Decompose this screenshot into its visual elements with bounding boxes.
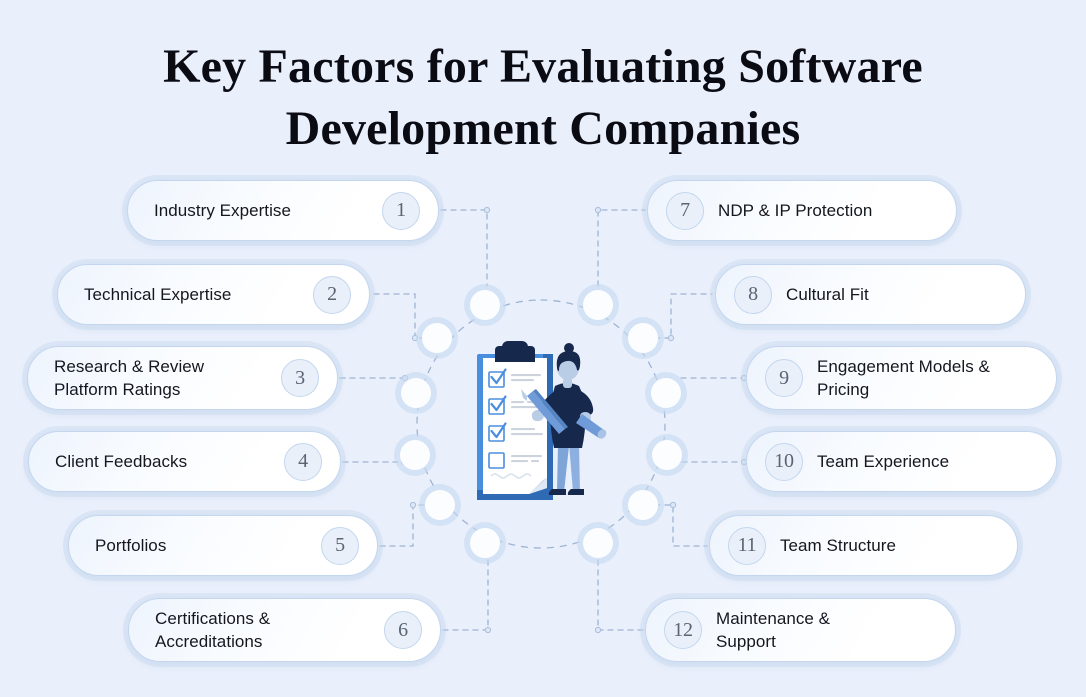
factor-number-2: 2 [313,276,351,314]
factor-label-7: NDP & IP Protection [718,199,872,222]
ring-node-12 [583,528,613,558]
factor-pill-2[interactable]: Technical Expertise 2 [57,264,370,325]
factor-pill-4[interactable]: Client Feedbacks 4 [28,431,341,492]
factor-label-5: Portfolios [95,534,180,557]
text-line [511,374,541,376]
factor-number-8: 8 [734,276,772,314]
ring-node-4 [628,323,658,353]
connector-1 [441,210,487,286]
ring-node-11 [470,528,500,558]
person-leg-front [569,444,580,492]
factor-number-4: 4 [284,443,322,481]
factor-label-11: Team Structure [780,534,896,557]
connector-6 [443,560,488,630]
text-line [511,428,535,430]
factor-label-2: Technical Expertise [84,283,245,306]
connector-endpoint-dot [595,627,600,632]
factor-pill-3[interactable]: Research & Review Platform Ratings 3 [27,346,338,410]
connector-7 [598,210,645,286]
factor-pill-12[interactable]: 12 Maintenance & Support [645,598,956,662]
text-line [511,379,534,381]
factor-pill-1[interactable]: Industry Expertise 1 [127,180,439,241]
connector-endpoint-dot [485,627,490,632]
connector-endpoint-dot [670,502,675,507]
person-shoe-front [568,489,584,495]
connector-12 [598,560,643,630]
ring-node-1 [470,290,500,320]
text-line [511,406,539,408]
factor-label-12: Maintenance & Support [716,607,830,653]
text-line [531,460,539,462]
ring-node-9 [425,490,455,520]
factor-label-6: Certifications & Accreditations [155,607,284,653]
person-shoe-back [549,489,566,495]
text-line [511,433,543,435]
clipboard-checklist-person-illustration [463,340,623,512]
factor-number-10: 10 [765,443,803,481]
factor-label-4: Client Feedbacks [55,450,201,473]
factor-pill-10[interactable]: 10 Team Experience [746,431,1057,492]
clipboard-clip-top [502,341,528,347]
ring-node-5 [401,378,431,408]
factor-number-9: 9 [765,359,803,397]
ring-node-7 [400,440,430,470]
factor-number-7: 7 [666,192,704,230]
factor-pill-11[interactable]: 11 Team Structure [709,515,1018,576]
connector-endpoint-dot [484,207,489,212]
factor-pill-9[interactable]: 9 Engagement Models & Pricing [746,346,1057,410]
person-leg-back [557,444,569,492]
ring-node-10 [628,490,658,520]
connector-endpoint-dot [410,502,415,507]
page-title: Key Factors for Evaluating Software Deve… [0,36,1086,160]
ring-node-2 [583,290,613,320]
person-hair-bun [564,343,574,353]
factor-label-3: Research & Review Platform Ratings [54,355,218,401]
factor-pill-5[interactable]: Portfolios 5 [68,515,378,576]
factor-number-5: 5 [321,527,359,565]
clipboard-clip [495,346,535,362]
ring-node-8 [652,440,682,470]
factor-label-8: Cultural Fit [786,283,869,306]
factor-pill-8[interactable]: 8 Cultural Fit [715,264,1026,325]
infographic-canvas: Key Factors for Evaluating Software Deve… [0,0,1086,697]
factor-number-11: 11 [728,527,766,565]
factor-number-12: 12 [664,611,702,649]
factor-label-9: Engagement Models & Pricing [817,355,990,401]
text-line [511,455,542,457]
ring-node-6 [651,378,681,408]
factor-number-1: 1 [382,192,420,230]
text-line [511,401,524,403]
factor-pill-7[interactable]: 7 NDP & IP Protection [647,180,957,241]
factor-label-1: Industry Expertise [154,199,305,222]
factor-number-6: 6 [384,611,422,649]
connector-endpoint-dot [668,335,673,340]
text-line [511,460,528,462]
factor-number-3: 3 [281,359,319,397]
connector-endpoint-dot [595,207,600,212]
factor-pill-6[interactable]: Certifications & Accreditations 6 [128,598,441,662]
ring-node-3 [422,323,452,353]
factor-label-10: Team Experience [817,450,949,473]
connector-endpoint-dot [412,335,417,340]
